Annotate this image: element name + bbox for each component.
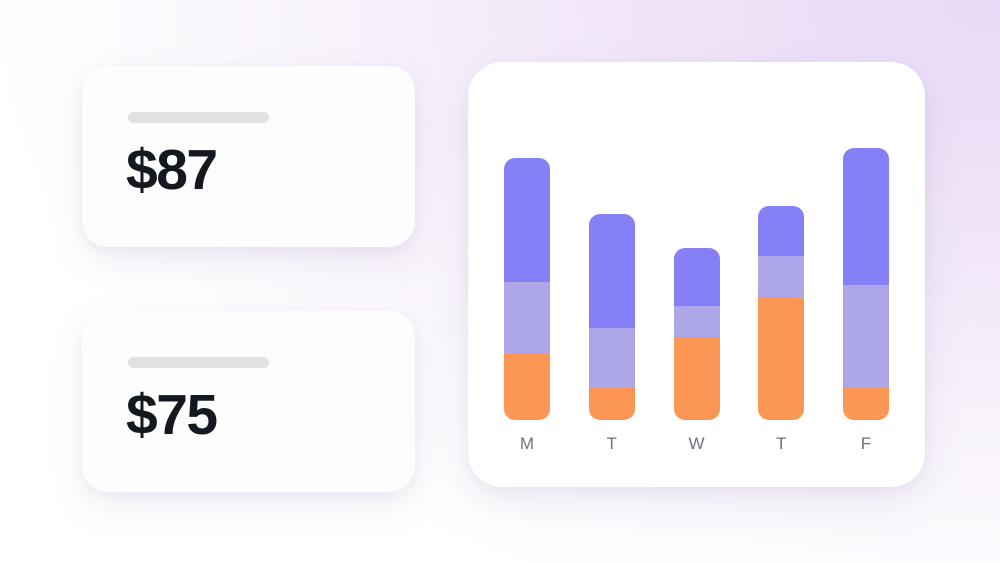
stat-card-1[interactable]: $87 <box>82 66 415 247</box>
bar-segment-middle <box>504 282 550 353</box>
stat-value-2: $75 <box>126 387 217 444</box>
placeholder-label-bar-2 <box>128 357 269 368</box>
bar-segment-middle <box>843 285 889 388</box>
chart-card: MTWTF <box>468 62 925 487</box>
stacked-bar-chart: MTWTF <box>468 62 925 487</box>
bar-segment-top <box>674 248 720 306</box>
x-axis-tick-label: W <box>674 434 720 454</box>
bar-stack[interactable] <box>674 248 720 420</box>
bar-segment-middle <box>674 306 720 338</box>
placeholder-label-bar-1 <box>128 112 269 123</box>
bar-stack[interactable] <box>843 148 889 420</box>
bar-segment-bottom <box>504 353 550 420</box>
x-axis-tick-label: T <box>758 434 804 454</box>
x-axis-tick-label: M <box>504 434 550 454</box>
bar-segment-top <box>589 214 635 328</box>
x-axis-tick-label: T <box>589 434 635 454</box>
bar-segment-top <box>843 148 889 285</box>
app-canvas: $87 $75 MTWTF <box>0 0 1000 563</box>
bar-segment-bottom <box>843 388 889 420</box>
bar-segment-bottom <box>674 338 720 420</box>
bar-segment-bottom <box>758 298 804 420</box>
bar-segment-top <box>758 206 804 256</box>
bar-stack[interactable] <box>589 214 635 420</box>
x-axis-tick-label: F <box>843 434 889 454</box>
bar-segment-bottom <box>589 388 635 420</box>
bar-segment-top <box>504 158 550 282</box>
bar-segment-middle <box>589 328 635 388</box>
stat-value-1: $87 <box>126 142 217 199</box>
bar-stack[interactable] <box>504 158 550 420</box>
bar-stack[interactable] <box>758 206 804 420</box>
bar-segment-middle <box>758 256 804 298</box>
stat-card-2[interactable]: $75 <box>82 311 415 492</box>
